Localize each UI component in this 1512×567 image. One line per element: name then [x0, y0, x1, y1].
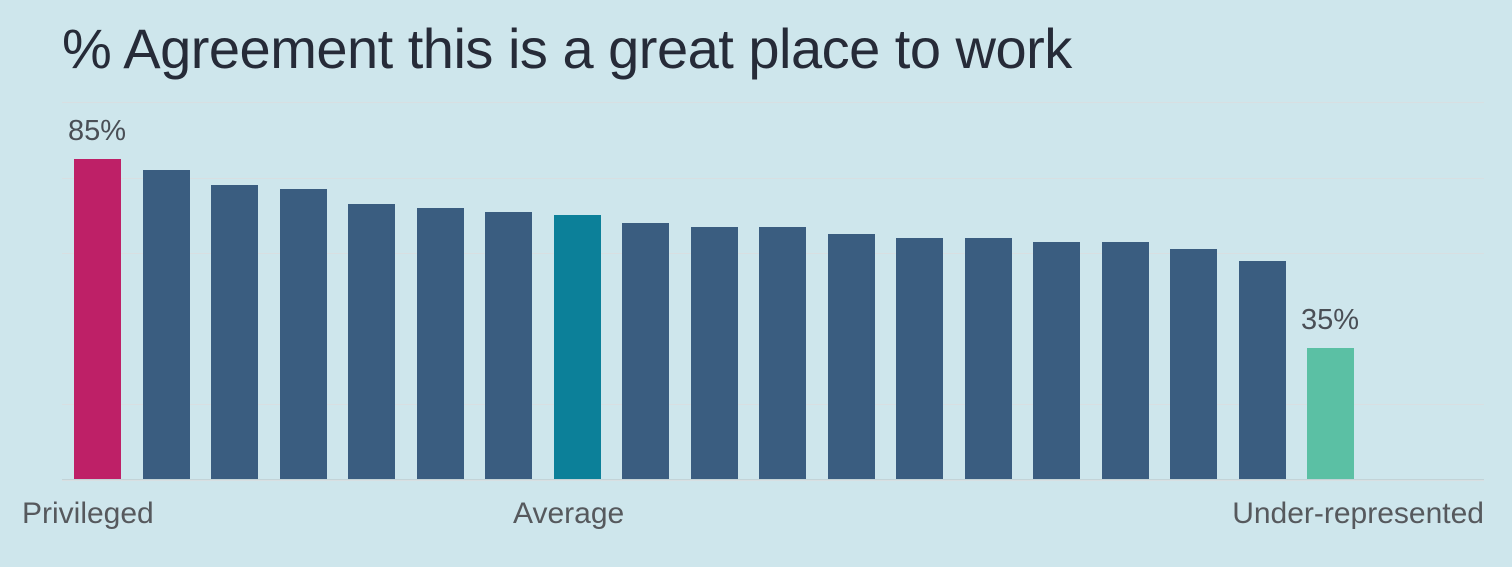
bar [1033, 242, 1080, 480]
bar [143, 170, 190, 480]
bar-value-label: 35% [1301, 304, 1359, 337]
bar [280, 189, 327, 480]
bar [1239, 261, 1286, 480]
bar [485, 212, 532, 480]
bar [211, 185, 258, 480]
chart-title: % Agreement this is a great place to wor… [62, 16, 1072, 81]
baseline-axis [62, 479, 1484, 480]
gridline [62, 480, 1484, 481]
axis-label-average: Average [513, 497, 624, 531]
category-axis-labels: Privileged Average Under-represented [0, 497, 1512, 547]
bar [1307, 348, 1354, 480]
bar [622, 223, 669, 480]
chart-canvas: % Agreement this is a great place to wor… [0, 0, 1512, 567]
bar [1170, 249, 1217, 480]
axis-label-under-represented: Under-represented [1232, 497, 1484, 531]
bar [348, 204, 395, 480]
bar [759, 227, 806, 480]
bar-series: 85%35% [62, 102, 1484, 480]
bar [965, 238, 1012, 480]
bar [691, 227, 738, 480]
bar [74, 159, 121, 480]
bar [417, 208, 464, 480]
bar [554, 215, 601, 480]
bar [1102, 242, 1149, 480]
plot-area: 85%35% [62, 102, 1484, 480]
axis-label-privileged: Privileged [22, 497, 154, 531]
bar-value-label: 85% [68, 115, 126, 148]
bar [896, 238, 943, 480]
bar [828, 234, 875, 480]
